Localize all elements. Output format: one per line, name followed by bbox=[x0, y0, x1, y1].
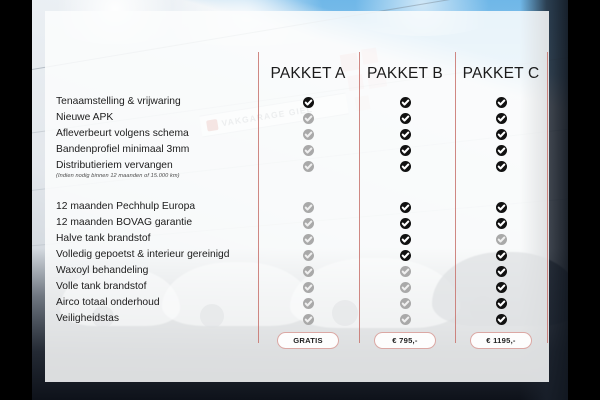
check-included-icon bbox=[400, 97, 411, 108]
check-included-icon bbox=[496, 298, 507, 309]
check-included-icon bbox=[496, 129, 507, 140]
check-included-icon bbox=[496, 161, 507, 172]
check-included-icon bbox=[400, 113, 411, 124]
check-excluded-icon bbox=[303, 129, 314, 140]
check-included-icon bbox=[400, 218, 411, 229]
feature-note: (Indien nodig binnen 12 maanden of 15.00… bbox=[56, 174, 180, 180]
feature-label: Bandenprofiel minimaal 3mm bbox=[56, 145, 189, 155]
check-excluded-icon bbox=[303, 202, 314, 213]
column-divider-4 bbox=[547, 52, 548, 343]
check-excluded-icon bbox=[303, 298, 314, 309]
feature-label: Tenaamstelling & vrijwaring bbox=[56, 97, 181, 107]
column-header-c: PAKKET C bbox=[441, 65, 561, 83]
check-excluded-icon bbox=[303, 161, 314, 172]
check-included-icon bbox=[496, 113, 507, 124]
check-included-icon bbox=[400, 145, 411, 156]
price-button-a[interactable]: GRATIS bbox=[277, 332, 339, 349]
feature-label: Afleverbeurt volgens schema bbox=[56, 129, 189, 139]
feature-label: Halve tank brandstof bbox=[56, 234, 150, 244]
feature-label: 12 maanden BOVAG garantie bbox=[56, 218, 192, 228]
check-excluded-icon bbox=[400, 266, 411, 277]
check-excluded-icon bbox=[303, 145, 314, 156]
check-included-icon bbox=[496, 282, 507, 293]
check-included-icon bbox=[496, 314, 507, 325]
check-excluded-icon bbox=[496, 234, 507, 245]
check-excluded-icon bbox=[400, 298, 411, 309]
check-included-icon bbox=[496, 145, 507, 156]
feature-label: Distributieriem vervangen(Indien nodig b… bbox=[56, 161, 180, 180]
check-included-icon bbox=[496, 250, 507, 261]
package-comparison-panel: PAKKET APAKKET BPAKKET CTenaamstelling &… bbox=[45, 11, 549, 382]
check-included-icon bbox=[400, 250, 411, 261]
check-included-icon bbox=[400, 129, 411, 140]
check-excluded-icon bbox=[303, 282, 314, 293]
check-included-icon bbox=[400, 202, 411, 213]
feature-label: Waxoyl behandeling bbox=[56, 266, 148, 276]
column-divider-3 bbox=[455, 52, 456, 343]
check-included-icon bbox=[496, 266, 507, 277]
check-excluded-icon bbox=[303, 250, 314, 261]
check-excluded-icon bbox=[303, 314, 314, 325]
feature-label: Volledig gepoetst & interieur gereinigd bbox=[56, 250, 229, 260]
check-excluded-icon bbox=[303, 218, 314, 229]
feature-label: Volle tank brandstof bbox=[56, 282, 146, 292]
check-included-icon bbox=[496, 202, 507, 213]
feature-label: Nieuwe APK bbox=[56, 113, 113, 123]
price-button-c[interactable]: € 1195,- bbox=[470, 332, 532, 349]
check-excluded-icon bbox=[400, 314, 411, 325]
check-included-icon bbox=[496, 97, 507, 108]
screenshot-stage: VAKGARAGE GIEL PAKKET APAKKET BPAKKET CT… bbox=[0, 0, 600, 400]
feature-label: Veiligheidstas bbox=[56, 314, 119, 324]
feature-label: 12 maanden Pechhulp Europa bbox=[56, 202, 195, 212]
check-excluded-icon bbox=[400, 282, 411, 293]
price-button-b[interactable]: € 795,- bbox=[374, 332, 436, 349]
feature-label: Airco totaal onderhoud bbox=[56, 298, 160, 308]
column-divider-1 bbox=[258, 52, 259, 343]
check-excluded-icon bbox=[303, 113, 314, 124]
check-included-icon bbox=[303, 97, 314, 108]
column-divider-2 bbox=[359, 52, 360, 343]
check-included-icon bbox=[496, 218, 507, 229]
check-included-icon bbox=[400, 234, 411, 245]
check-excluded-icon bbox=[303, 234, 314, 245]
package-comparison-table: PAKKET APAKKET BPAKKET CTenaamstelling &… bbox=[45, 11, 549, 382]
check-excluded-icon bbox=[303, 266, 314, 277]
check-included-icon bbox=[400, 161, 411, 172]
